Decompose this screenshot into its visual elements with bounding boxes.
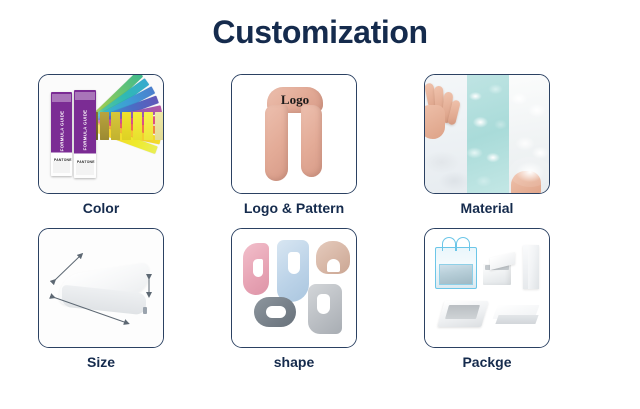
card-label-package: Packge — [462, 355, 511, 370]
shape-variants-image — [232, 229, 356, 347]
pillow-inner-notch — [289, 115, 301, 165]
pillow-right-arm — [301, 105, 322, 177]
material-panel-shredded-foam — [467, 75, 509, 193]
color-fan — [87, 87, 163, 167]
card-label-logo-pattern: Logo & Pattern — [244, 201, 344, 216]
material-panels-image — [425, 75, 549, 193]
pantone-book-title: FORMULA GUIDE — [59, 110, 64, 151]
color-swatch-fan-image: FORMULA GUIDE PANTONE FORMULA GUIDE PANT… — [39, 75, 163, 193]
swatch-strip — [100, 112, 109, 140]
card-shape-frame[interactable] — [231, 228, 357, 348]
card-package[interactable]: Packge — [424, 228, 550, 370]
pillow-shape-u-beige — [316, 241, 350, 274]
pillow-shape-j-blue — [277, 240, 309, 302]
pillow-left-arm — [265, 105, 288, 181]
hand-pressing-foam-icon — [425, 83, 459, 139]
width-arrow — [53, 297, 127, 323]
tray-inner — [445, 305, 480, 319]
card-label-shape: shape — [274, 355, 314, 370]
swatch-strip — [111, 112, 120, 140]
pillow-shape-c-pink — [243, 243, 269, 295]
card-size-frame[interactable] — [38, 228, 164, 348]
card-label-color: Color — [83, 201, 120, 216]
tote-handle-right — [456, 237, 470, 251]
pantone-book-title: FORMULA GUIDE — [83, 110, 88, 151]
card-logo-pattern[interactable]: Logo Logo & Pattern — [231, 74, 357, 216]
pantone-brand-mark: PANTONE — [77, 160, 95, 164]
flat-box — [495, 305, 539, 329]
card-color-frame[interactable]: FORMULA GUIDE PANTONE FORMULA GUIDE PANT… — [38, 74, 164, 194]
material-panel-fiberfill — [509, 75, 549, 193]
logo-pillow-image: Logo — [232, 75, 356, 193]
page-title: Customization — [0, 14, 640, 51]
card-material[interactable]: Material — [424, 74, 550, 216]
logo-text: Logo — [265, 92, 325, 108]
card-color[interactable]: FORMULA GUIDE PANTONE FORMULA GUIDE PANT… — [38, 74, 164, 216]
swatch-strip — [155, 112, 163, 140]
depth-arrow — [54, 255, 81, 281]
tall-box — [523, 245, 539, 289]
swatch-strip — [133, 112, 142, 140]
pantone-book-coated: FORMULA GUIDE PANTONE — [51, 92, 72, 176]
card-logo-pattern-frame[interactable]: Logo — [231, 74, 357, 194]
customization-grid: FORMULA GUIDE PANTONE FORMULA GUIDE PANT… — [38, 74, 550, 370]
tote-handle-left — [442, 237, 456, 251]
open-gift-box — [483, 255, 515, 285]
swatch-strip — [144, 112, 153, 140]
u-shaped-pillow: Logo — [265, 87, 325, 187]
card-package-frame[interactable] — [424, 228, 550, 348]
pantone-book-uncoated: FORMULA GUIDE PANTONE — [74, 90, 96, 178]
tote-clear-window — [439, 264, 473, 285]
dimension-arrows-overlay — [39, 229, 163, 347]
pantone-brand-mark: PANTONE — [54, 158, 72, 162]
flat-box-side — [495, 315, 538, 324]
fiber-puff — [509, 157, 549, 187]
swatch-strip — [122, 112, 131, 140]
card-label-size: Size — [87, 355, 115, 370]
material-panel-memory-foam — [425, 75, 467, 193]
size-pillow-image — [39, 229, 163, 347]
shallow-tray-box — [441, 301, 485, 327]
pillow-shape-c-gray — [254, 297, 296, 327]
card-shape[interactable]: shape — [231, 228, 357, 370]
card-label-material: Material — [461, 201, 514, 216]
card-material-frame[interactable] — [424, 74, 550, 194]
packaging-options-image — [425, 229, 549, 347]
card-size[interactable]: Size — [38, 228, 164, 370]
clear-tote-bag — [435, 247, 477, 289]
pillow-shape-j-lightgray — [308, 284, 342, 334]
